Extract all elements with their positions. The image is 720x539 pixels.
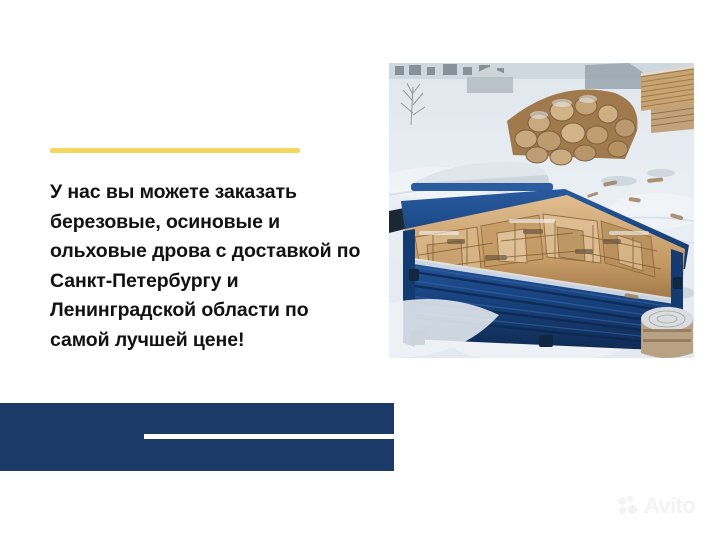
- avito-watermark-label: Avito: [644, 495, 695, 517]
- navy-banner-divider: [144, 434, 394, 439]
- firewood-truck-illustration: [389, 63, 694, 358]
- yellow-accent-rule: [50, 148, 300, 153]
- avito-logo-icon: [618, 496, 640, 516]
- avito-watermark: Avito: [618, 492, 702, 520]
- firewood-truck-photo: [389, 63, 694, 358]
- page-headline: У нас вы можете заказать березовые, осин…: [50, 178, 390, 355]
